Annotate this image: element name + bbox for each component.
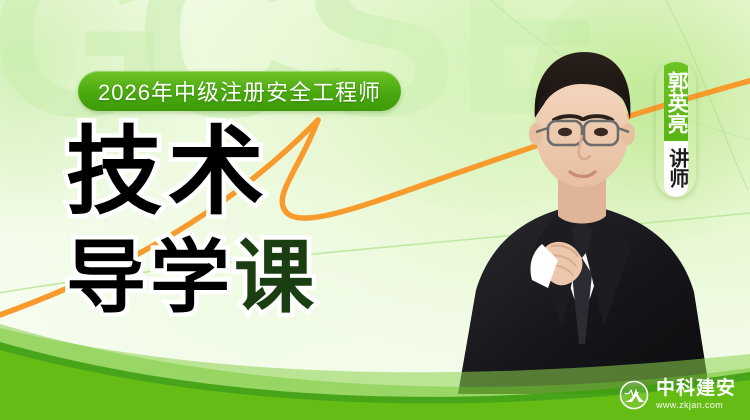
brand-name: 中科建安 xyxy=(656,379,736,398)
page-title: 技术 导学课 xyxy=(66,124,318,318)
brand-logo: 中科建安 www.zkjan.com xyxy=(619,379,736,410)
instructor-role: 讲师 xyxy=(664,141,688,197)
course-promo-poster: G C S E 2026年中级注册安全工程师 技术 导学课 xyxy=(0,0,750,420)
instructor-name: 郭英亮 xyxy=(664,62,688,141)
course-subtitle-text: 2026年中级注册安全工程师 xyxy=(98,75,381,107)
headline-line-1: 技术 xyxy=(66,124,318,220)
brand-url: www.zkjan.com xyxy=(656,401,736,410)
mountain-peak-circle-icon xyxy=(619,380,649,410)
instructor-badge: 郭英亮 讲师 xyxy=(656,62,696,197)
headline-line-2: 导学课 xyxy=(66,238,318,318)
course-subtitle-banner: 2026年中级注册安全工程师 xyxy=(78,71,401,111)
